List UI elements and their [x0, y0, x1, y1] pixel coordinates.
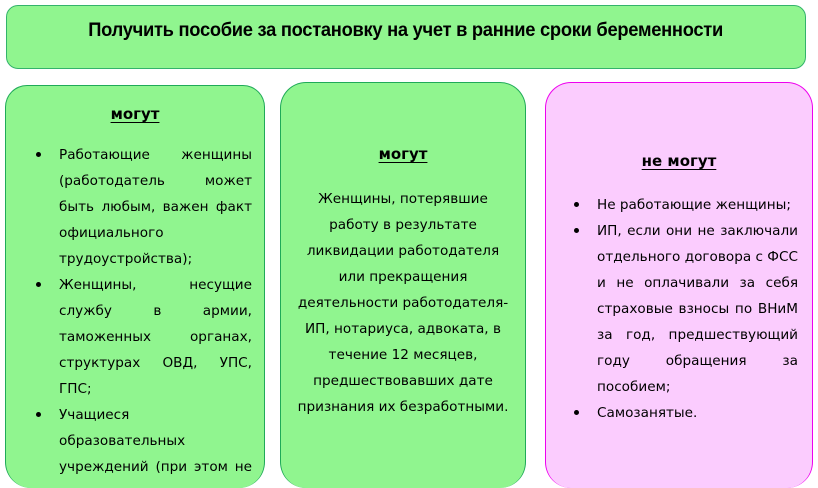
column-cannot: не могут Не работающие женщины; ИП, если…: [545, 82, 813, 488]
column-heading-cannot: не могут: [546, 152, 812, 170]
list-item-text: Женщины, несущие службу в армии, таможен…: [59, 272, 252, 402]
list-item: Не работающие женщины;: [572, 192, 798, 218]
list-item: ИП, если они не заключали отдельного дог…: [572, 218, 798, 400]
column-can-unemployed: могут Женщины, потерявшие работу в резул…: [280, 82, 526, 488]
page-title: Получить пособие за постановку на учет в…: [89, 19, 724, 42]
column-can-employed: могут Работающие женщины (работодатель м…: [5, 85, 265, 488]
title-banner: Получить пособие за постановку на учет в…: [6, 5, 806, 69]
column-paragraph-can-unemployed: Женщины, потерявшие работу в результате …: [297, 186, 509, 420]
bullet-list-can-employed: Работающие женщины (работодатель может б…: [6, 142, 264, 488]
bullet-list-cannot: Не работающие женщины; ИП, если они не з…: [546, 192, 812, 426]
list-item: Женщины, несущие службу в армии, таможен…: [34, 272, 252, 402]
list-item-text: Учащиеся образовательных учреждений (при…: [59, 402, 252, 488]
column-heading-can-employed: могут: [6, 105, 264, 123]
list-item-text: Не работающие женщины;: [597, 192, 798, 218]
list-item-text: Работающие женщины (работодатель может б…: [59, 142, 252, 272]
list-item-text: Самозанятые.: [597, 400, 798, 426]
infographic-canvas: Получить пособие за постановку на учет в…: [0, 0, 818, 488]
column-heading-can-unemployed: могут: [281, 145, 525, 163]
list-item: Работающие женщины (работодатель может б…: [34, 142, 252, 272]
list-item: Самозанятые.: [572, 400, 798, 426]
list-item-text: ИП, если они не заключали отдельного дог…: [597, 218, 798, 400]
list-item: Учащиеся образовательных учреждений (при…: [34, 402, 252, 488]
